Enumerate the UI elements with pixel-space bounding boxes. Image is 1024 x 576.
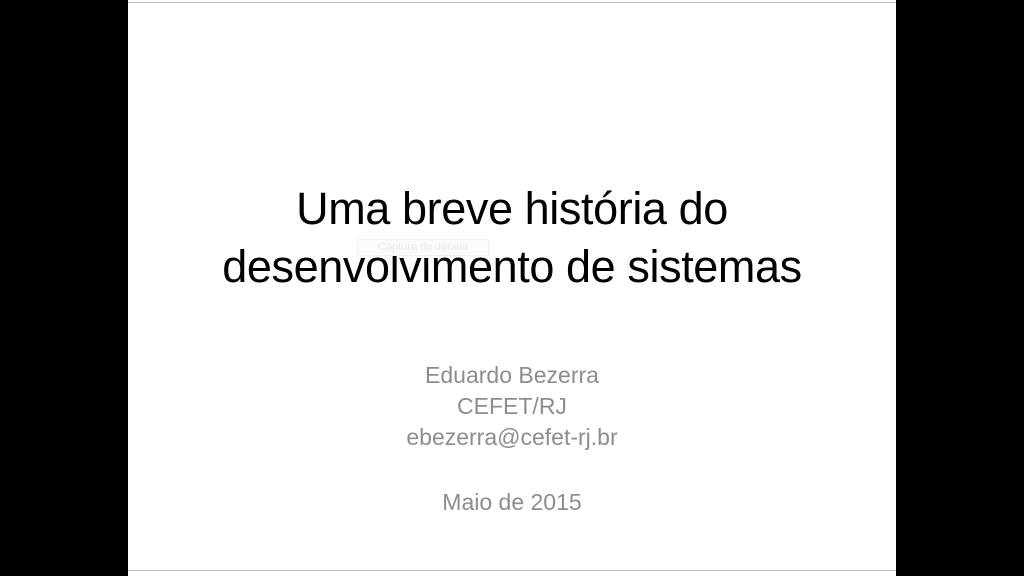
slide-top-border [128, 2, 896, 3]
slide-title-line-2: desenvolvimento de sistemas [128, 238, 896, 296]
presentation-date: Maio de 2015 [128, 487, 896, 518]
slide-title: Uma breve história do desenvolvimento de… [128, 180, 896, 296]
presentation-slide[interactable]: Uma breve história do desenvolvimento de… [128, 0, 896, 576]
affiliation: CEFET/RJ [128, 391, 896, 422]
slide-subtitle: Eduardo Bezerra CEFET/RJ ebezerra@cefet-… [128, 360, 896, 453]
slide-title-line-1: Uma breve história do [128, 180, 896, 238]
letterbox-bar-right [896, 0, 1024, 576]
letterbox-bar-left [0, 0, 128, 576]
author-email: ebezerra@cefet-rj.br [128, 422, 896, 453]
screen: Uma breve história do desenvolvimento de… [0, 0, 1024, 576]
slide-bottom-border [128, 570, 896, 571]
capture-window-tooltip-artifact: Captura de Janela [357, 239, 489, 256]
author-name: Eduardo Bezerra [128, 360, 896, 391]
